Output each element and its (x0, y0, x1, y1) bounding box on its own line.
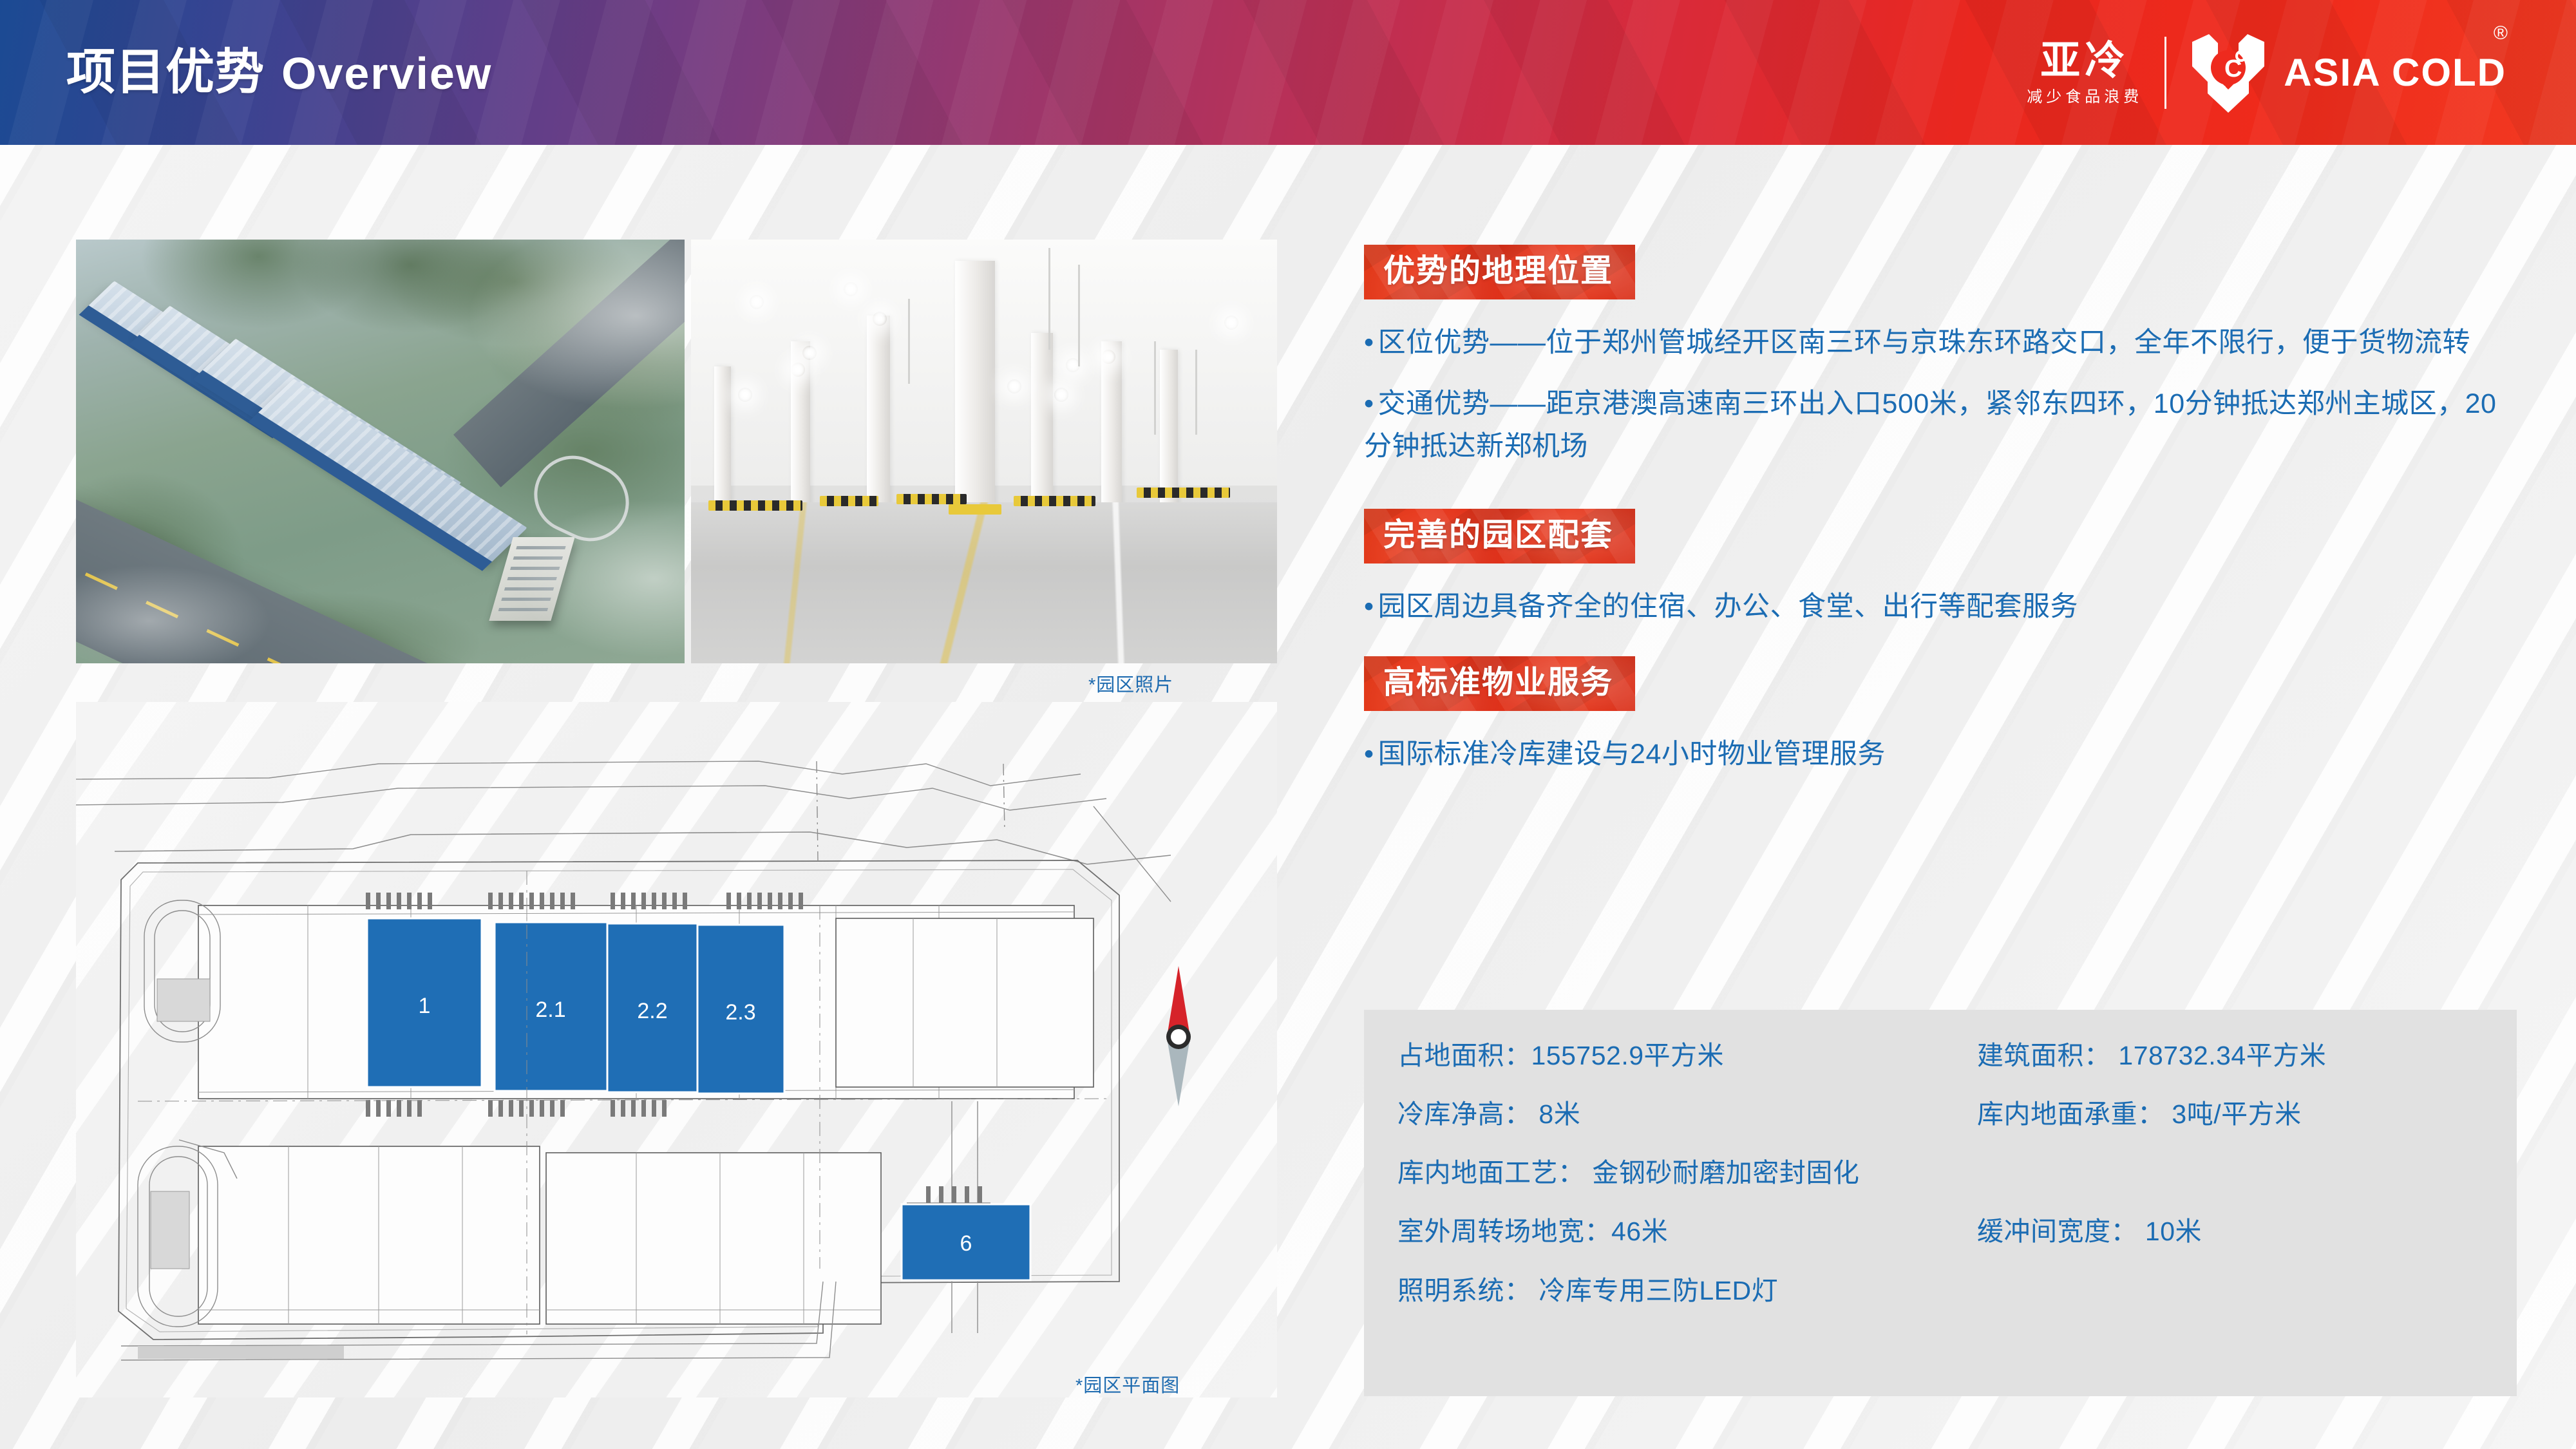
spec-row-height: 冷库净高： 8米 库内地面承重： 3吨/平方米 (1397, 1099, 2517, 1130)
spec-land-area: 占地面积：155752.9平方米 (1397, 1041, 1977, 1071)
site-plan-block-2-2-label: 2.2 (637, 999, 667, 1023)
site-plan-block-2-1-label: 2.1 (535, 998, 565, 1022)
site-plan-block-2-3-label: 2.3 (725, 1000, 755, 1025)
bullet-surrounding-services: 园区周边具备齐全的住宿、办公、食堂、出行等配套服务 (1364, 586, 2497, 628)
spec-buffer-width: 缓冲间宽度： 10米 (1977, 1217, 2505, 1247)
spec-floor-loading: 库内地面承重： 3吨/平方米 (1977, 1099, 2505, 1130)
page-title: 项目优势Overview (66, 32, 492, 103)
compass-north-icon (1166, 966, 1191, 1106)
spec-clear-height: 冷库净高： 8米 (1397, 1099, 1977, 1130)
section-heading-property-service: 高标准物业服务 (1364, 656, 1635, 711)
site-plan-caption: *园区平面图 (1075, 1370, 1180, 1397)
aerial-render-photo (76, 240, 685, 663)
snowflake-shield-icon: C (2187, 32, 2269, 114)
photo-caption: *园区照片 (1088, 670, 1173, 697)
logo-brand-name-cn: 亚冷 (2040, 41, 2129, 81)
section-heading-property-service-label: 高标准物业服务 (1383, 665, 1613, 700)
spec-yard-width: 室外周转场地宽：46米 (1397, 1217, 1977, 1247)
spec-row-area: 占地面积：155752.9平方米 建筑面积： 178732.34平方米 (1397, 1041, 2517, 1071)
bullet-transport-advantage: 交通优势——距京港澳高速南三环出入口500米，紧邻东四环，10分钟抵达郑州主城区… (1364, 383, 2497, 468)
logo-brand-name-en: ASIA COLD ® (2284, 53, 2506, 92)
spec-row-lighting: 照明系统： 冷库专用三防LED灯 (1397, 1276, 2517, 1306)
page-title-en: Overview (281, 48, 492, 99)
slide-header: 项目优势Overview 亚冷 减少食品浪费 C (0, 0, 2576, 145)
spec-building-area: 建筑面积： 178732.34平方米 (1977, 1041, 2505, 1071)
section-heading-facilities-label: 完善的园区配套 (1383, 518, 1613, 553)
logo-chinese-lockup: 亚冷 减少食品浪费 (2027, 41, 2164, 105)
bullet-property-management: 国际标准冷库建设与24小时物业管理服务 (1364, 734, 2497, 775)
logo-en-text: ASIA COLD (2284, 51, 2506, 94)
slide-root: 项目优势Overview 亚冷 减少食品浪费 C (0, 0, 2576, 1449)
logo-tagline-cn: 减少食品浪费 (2027, 90, 2143, 105)
registered-trademark-icon: ® (2494, 24, 2509, 43)
section-heading-location-label: 优势的地理位置 (1383, 254, 1613, 289)
brand-logo: 亚冷 减少食品浪费 C ASIA COLD (2027, 24, 2506, 121)
cold-storage-interior-photo (691, 240, 1277, 663)
spec-row-yard: 室外周转场地宽：46米 缓冲间宽度： 10米 (1397, 1217, 2517, 1247)
site-plan-card: 1 2.1 2.2 2.3 6 (76, 702, 1277, 1397)
spec-floor-finish: 库内地面工艺： 金钢砂耐磨加密封固化 (1397, 1158, 2492, 1188)
spec-lighting-system: 照明系统： 冷库专用三防LED灯 (1397, 1276, 2492, 1306)
site-plan-block-6-label: 6 (960, 1231, 972, 1256)
section-heading-facilities: 完善的园区配套 (1364, 509, 1635, 563)
content-column: 优势的地理位置 区位优势——位于郑州管城经开区南三环与京珠东环路交口，全年不限行… (1364, 245, 2517, 776)
site-plan-block-1-label: 1 (419, 994, 431, 1018)
logo-divider (2164, 37, 2166, 109)
photo-row (76, 240, 1277, 663)
bullet-location-advantage: 区位优势——位于郑州管城经开区南三环与京珠东环路交口，全年不限行，便于货物流转 (1364, 322, 2497, 364)
page-title-cn: 项目优势 (66, 45, 265, 100)
specification-panel: 占地面积：155752.9平方米 建筑面积： 178732.34平方米 冷库净高… (1364, 1010, 2517, 1396)
site-plan-drawing: 1 2.1 2.2 2.3 6 (76, 702, 1277, 1397)
spec-row-floor-finish: 库内地面工艺： 金钢砂耐磨加密封固化 (1397, 1158, 2517, 1188)
section-heading-location: 优势的地理位置 (1364, 245, 1635, 299)
